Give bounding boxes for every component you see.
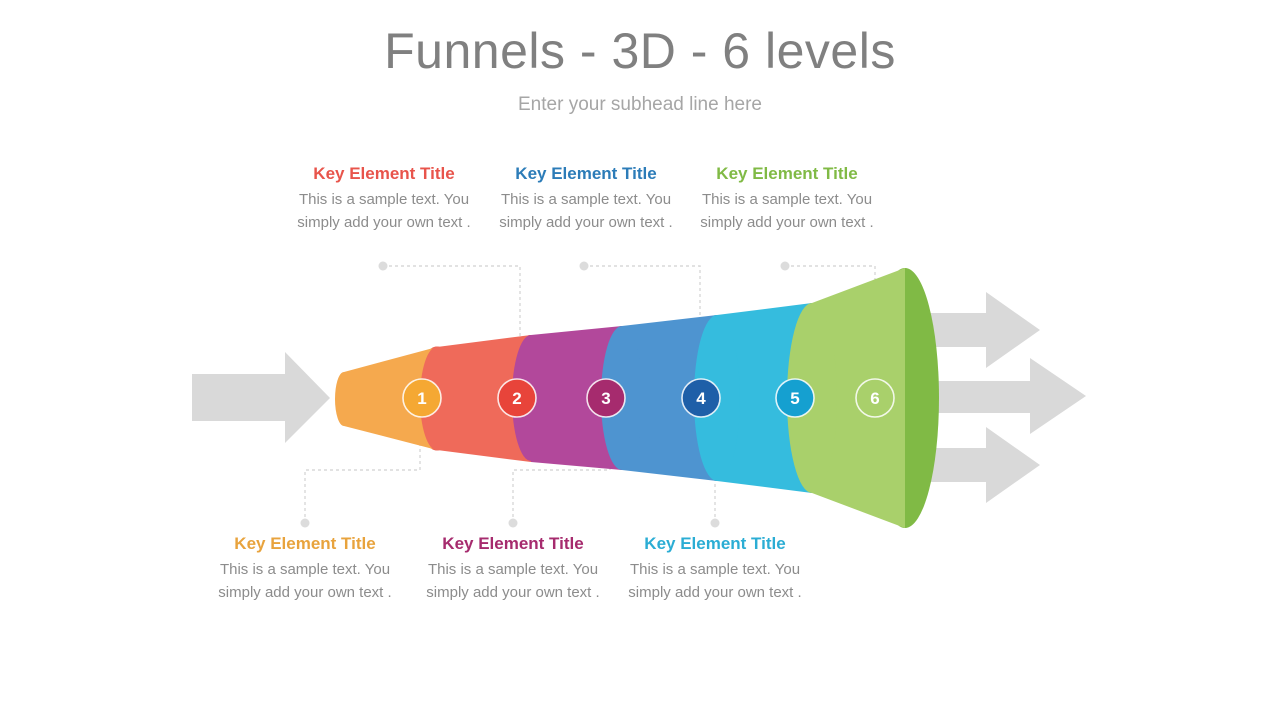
- callout-top-3[interactable]: Key Element Title This is a sample text.…: [687, 163, 887, 234]
- funnel-badge-2[interactable]: 2: [498, 379, 536, 417]
- funnel-badge-label-3: 3: [601, 389, 610, 408]
- callout-top-1-title: Key Element Title: [284, 163, 484, 185]
- callout-top-2-title: Key Element Title: [486, 163, 686, 185]
- connector-dot-bottom-3: [711, 519, 720, 528]
- callout-bottom-3[interactable]: Key Element Title This is a sample text.…: [615, 533, 815, 604]
- callout-bottom-1-title: Key Element Title: [205, 533, 405, 555]
- funnel-badge-label-1: 1: [417, 389, 426, 408]
- callout-top-3-title: Key Element Title: [687, 163, 887, 185]
- callout-top-1[interactable]: Key Element Title This is a sample text.…: [284, 163, 484, 234]
- callout-bottom-1[interactable]: Key Element Title This is a sample text.…: [205, 533, 405, 604]
- callout-bottom-3-body: This is a sample text. You simply add yo…: [615, 559, 815, 604]
- callout-top-3-body: This is a sample text. You simply add yo…: [687, 189, 887, 234]
- slide-canvas: Funnels - 3D - 6 levels Enter your subhe…: [0, 0, 1280, 720]
- funnel-badge-5[interactable]: 5: [776, 379, 814, 417]
- callout-bottom-2-title: Key Element Title: [413, 533, 613, 555]
- connector-dot-bottom-2: [509, 519, 518, 528]
- funnel-badge-label-4: 4: [696, 389, 706, 408]
- funnel-badge-label-5: 5: [790, 389, 799, 408]
- connector-dot-top-1: [379, 262, 388, 271]
- funnel-badge-3[interactable]: 3: [587, 379, 625, 417]
- input-arrow: [192, 352, 330, 443]
- callout-top-2-body: This is a sample text. You simply add yo…: [486, 189, 686, 234]
- funnel-badge-label-6: 6: [870, 389, 879, 408]
- connector-dot-bottom-1: [301, 519, 310, 528]
- connector-dot-top-3: [781, 262, 790, 271]
- callout-bottom-1-body: This is a sample text. You simply add yo…: [205, 559, 405, 604]
- funnel-badge-4[interactable]: 4: [682, 379, 720, 417]
- funnel-badge-1[interactable]: 1: [403, 379, 441, 417]
- funnel-graphic: 1 2 3 4 5: [0, 0, 1280, 720]
- funnel-badge-6[interactable]: 6: [856, 379, 894, 417]
- callout-bottom-2-body: This is a sample text. You simply add yo…: [413, 559, 613, 604]
- callout-bottom-3-title: Key Element Title: [615, 533, 815, 555]
- connector-dot-top-2: [580, 262, 589, 271]
- callout-bottom-2[interactable]: Key Element Title This is a sample text.…: [413, 533, 613, 604]
- callout-top-1-body: This is a sample text. You simply add yo…: [284, 189, 484, 234]
- callout-top-2[interactable]: Key Element Title This is a sample text.…: [486, 163, 686, 234]
- funnel-badge-label-2: 2: [512, 389, 521, 408]
